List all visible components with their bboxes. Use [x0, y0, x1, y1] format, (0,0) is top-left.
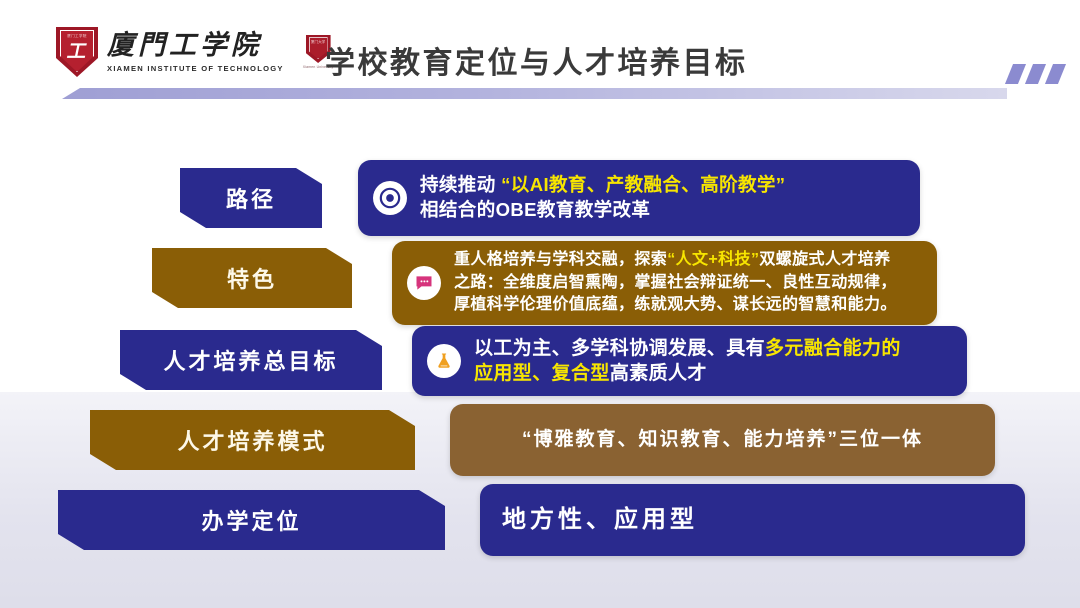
goal-line1-highlight: 多元融合能力的	[765, 338, 901, 359]
goal-line2-highlight: 应用型、复合型	[474, 363, 610, 384]
flask-icon	[427, 344, 461, 378]
row-card-text-overall-goal: 以工为主、多学科协调发展、具有多元融合能力的 应用型、复合型高素质人才	[474, 336, 901, 387]
row-label-banner-training-mode[interactable]: 人才培养模式	[90, 410, 415, 470]
row-label-banner-feature[interactable]: 特色	[152, 248, 352, 308]
feature-line2: 之路：全维度启智熏陶，掌握社会辩证统一、良性互动规律，	[454, 274, 897, 291]
university-logo: 厦门工学院 工 廈門工学院 XIAMEN INSTITUTE OF TECHNO…	[56, 27, 333, 77]
row-label-text: 路径	[226, 182, 276, 214]
chat-bubble-icon	[407, 266, 441, 300]
row-card-text-feature: 重人格培养与学科交融，探索“人文+科技”双螺旋式人才培养 之路：全维度启智熏陶，…	[454, 249, 897, 317]
feature-line1-a: 重人格培养与学科交融，探索	[454, 251, 667, 268]
page-title: 学校教育定位与人才培养目标	[325, 38, 748, 82]
logo-wordmark: 廈門工学院 XIAMEN INSTITUTE OF TECHNOLOGY	[107, 31, 284, 72]
row-label-text: 特色	[227, 262, 277, 294]
row-card-path[interactable]: 持续推动 “以AI教育、产教融合、高阶教学” 相结合的OBE教育教学改革	[358, 160, 920, 236]
row-card-training-mode[interactable]: “博雅教育、知识教育、能力培养”三位一体	[450, 404, 995, 476]
path-text-tail: 相结合的OBE教育教学改革	[420, 199, 650, 220]
slide-canvas: 厦门工学院 工 廈門工学院 XIAMEN INSTITUTE OF TECHNO…	[0, 0, 1080, 608]
path-text-highlight: “以AI教育、产教融合、高阶教学”	[501, 174, 785, 195]
path-text-lead: 持续推动	[420, 174, 501, 195]
goal-line2-b: 高素质人才	[610, 363, 707, 384]
target-disc-icon	[373, 181, 407, 215]
row-label-banner-positioning[interactable]: 办学定位	[58, 490, 445, 550]
shield-logo-icon: 厦门工学院 工	[56, 27, 98, 77]
tick-bar-2	[1025, 64, 1046, 84]
row-label-banner-path[interactable]: 路径	[180, 168, 322, 228]
logo-english-name: XIAMEN INSTITUTE OF TECHNOLOGY	[107, 64, 284, 73]
row-card-text-path: 持续推动 “以AI教育、产教融合、高阶教学” 相结合的OBE教育教学改革	[420, 173, 785, 222]
goal-line1-a: 以工为主、多学科协调发展、具有	[474, 338, 765, 359]
row-card-text-training-mode: “博雅教育、知识教育、能力培养”三位一体	[450, 427, 995, 452]
row-label-text: 人才培养模式	[177, 424, 327, 456]
row-label-text: 办学定位	[201, 504, 301, 536]
row-label-text: 人才培养总目标	[163, 344, 338, 376]
feature-line3: 厚植科学伦理价值底蕴，练就观大势、谋长远的智慧和能力。	[454, 296, 897, 313]
row-card-overall-goal[interactable]: 以工为主、多学科协调发展、具有多元融合能力的 应用型、复合型高素质人才	[412, 326, 967, 396]
row-label-banner-overall-goal[interactable]: 人才培养总目标	[120, 330, 382, 390]
row-card-feature[interactable]: 重人格培养与学科交融，探索“人文+科技”双螺旋式人才培养 之路：全维度启智熏陶，…	[392, 241, 937, 325]
slide-header: 厦门工学院 工 廈門工学院 XIAMEN INSTITUTE OF TECHNO…	[0, 0, 1080, 110]
feature-line1-highlight: “人文+科技”	[667, 251, 759, 268]
logo-chinese-name: 廈門工学院	[107, 31, 284, 60]
header-tick-decoration	[1009, 64, 1062, 84]
row-card-positioning[interactable]: 地方性、应用型	[480, 484, 1025, 556]
shield-mark-text: 工	[65, 37, 89, 64]
tick-bar-3	[1045, 64, 1066, 84]
row-card-text-positioning: 地方性、应用型	[502, 504, 698, 536]
tick-bar-1	[1005, 64, 1026, 84]
header-divider-band	[62, 88, 1007, 99]
feature-line1-b: 双螺旋式人才培养	[759, 251, 890, 268]
